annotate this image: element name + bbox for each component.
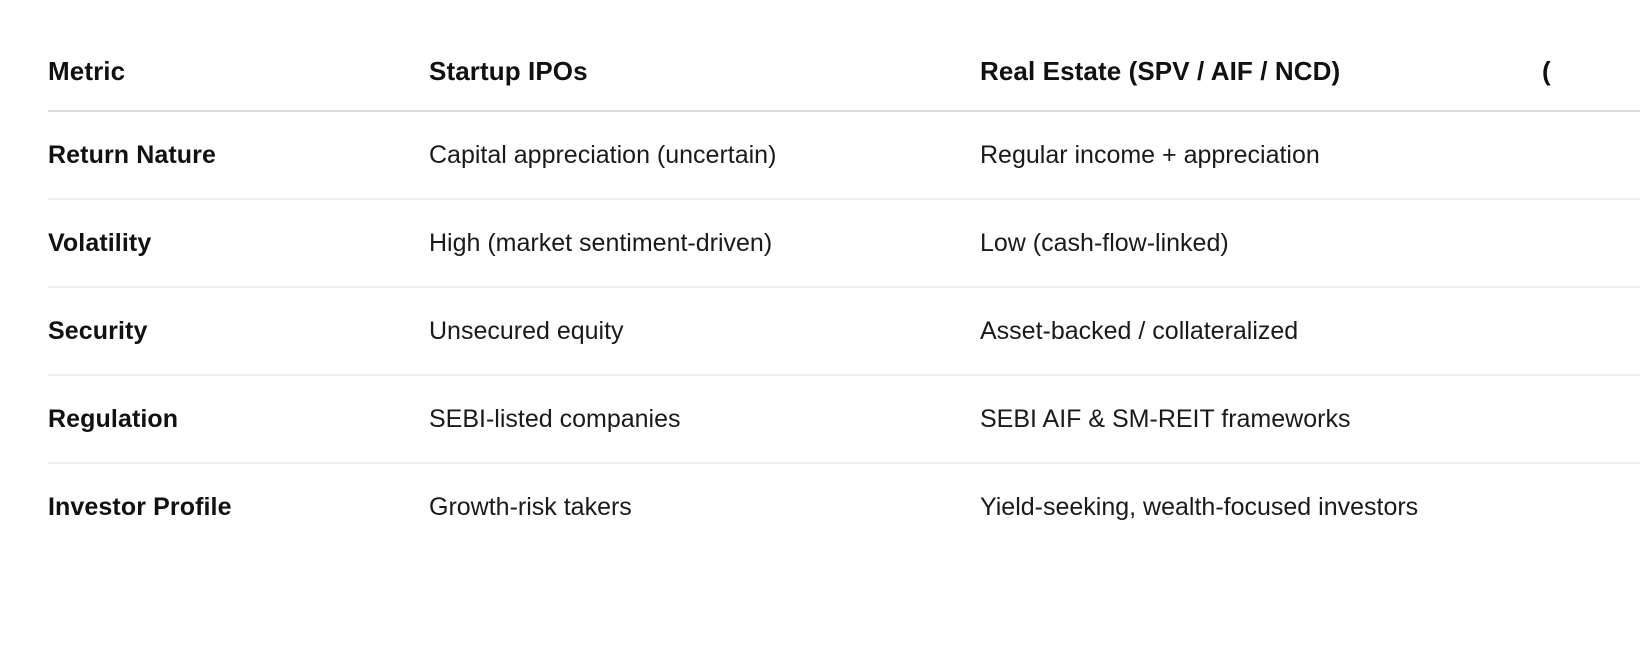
cell-fourth-clipped xyxy=(1542,463,1640,550)
table-row: Investor Profile Growth-risk takers Yiel… xyxy=(48,463,1640,550)
cell-real-estate: Asset-backed / collateralized xyxy=(980,287,1542,375)
page-root: Metric Startup IPOs Real Estate (SPV / A… xyxy=(0,0,1640,664)
table-body: Return Nature Capital appreciation (unce… xyxy=(48,111,1640,550)
cell-fourth-clipped xyxy=(1542,199,1640,287)
column-header-real-estate[interactable]: Real Estate (SPV / AIF / NCD) xyxy=(980,56,1542,111)
table-header-row: Metric Startup IPOs Real Estate (SPV / A… xyxy=(48,56,1640,111)
table-row: Regulation SEBI-listed companies SEBI AI… xyxy=(48,375,1640,463)
comparison-table: Metric Startup IPOs Real Estate (SPV / A… xyxy=(48,56,1640,550)
column-header-metric[interactable]: Metric xyxy=(48,56,429,111)
cell-startup-ipos: Capital appreciation (uncertain) xyxy=(429,111,980,199)
cell-fourth-clipped xyxy=(1542,375,1640,463)
cell-metric: Security xyxy=(48,287,429,375)
cell-metric: Regulation xyxy=(48,375,429,463)
table-header: Metric Startup IPOs Real Estate (SPV / A… xyxy=(48,56,1640,111)
cell-startup-ipos: High (market sentiment-driven) xyxy=(429,199,980,287)
cell-fourth-clipped xyxy=(1542,111,1640,199)
cell-metric: Volatility xyxy=(48,199,429,287)
cell-real-estate: SEBI AIF & SM-REIT frameworks xyxy=(980,375,1542,463)
cell-real-estate: Yield-seeking, wealth-focused investors xyxy=(980,463,1542,550)
column-header-startup-ipos[interactable]: Startup IPOs xyxy=(429,56,980,111)
cell-fourth-clipped xyxy=(1542,287,1640,375)
cell-real-estate: Regular income + appreciation xyxy=(980,111,1542,199)
cell-real-estate: Low (cash-flow-linked) xyxy=(980,199,1542,287)
cell-startup-ipos: Unsecured equity xyxy=(429,287,980,375)
table-row: Volatility High (market sentiment-driven… xyxy=(48,199,1640,287)
table-scroll-container[interactable]: Metric Startup IPOs Real Estate (SPV / A… xyxy=(0,0,1640,664)
cell-metric: Investor Profile xyxy=(48,463,429,550)
table-row: Security Unsecured equity Asset-backed /… xyxy=(48,287,1640,375)
column-header-fourth-clipped[interactable]: ( xyxy=(1542,56,1640,111)
table-row: Return Nature Capital appreciation (unce… xyxy=(48,111,1640,199)
cell-startup-ipos: Growth-risk takers xyxy=(429,463,980,550)
cell-startup-ipos: SEBI-listed companies xyxy=(429,375,980,463)
cell-metric: Return Nature xyxy=(48,111,429,199)
